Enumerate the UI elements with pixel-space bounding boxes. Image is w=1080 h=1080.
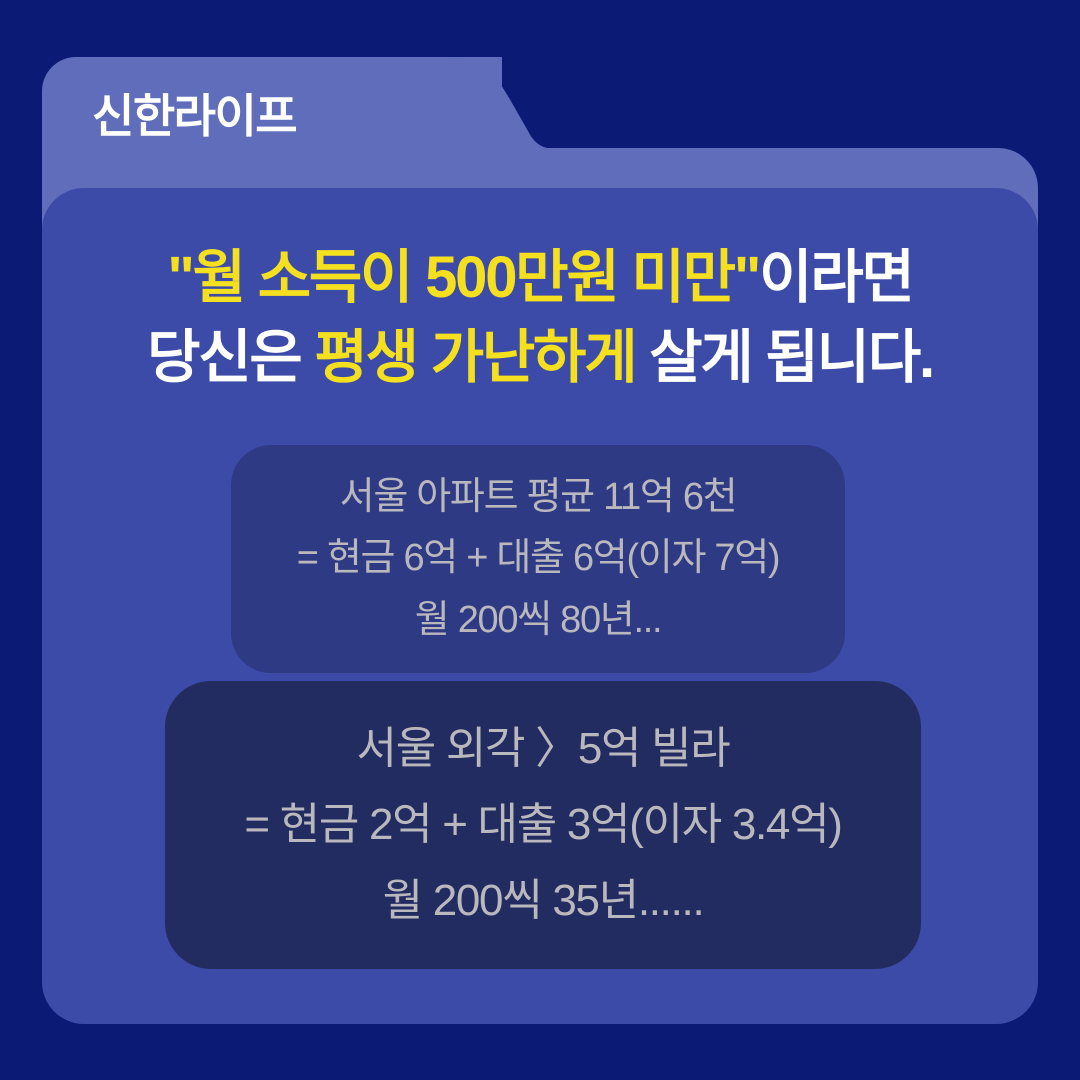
card-1-line-2: = 현금 6억 + 대출 6억(이자 7억) [297,528,779,590]
headline-line-2-accent: 평생 가난하게 [314,325,635,390]
card-1-line-1: 서울 아파트 평균 11억 6천 [340,467,737,529]
headline-line-2-plain-a: 당신은 [147,325,314,390]
headline-line-1-plain: 이라면 [759,245,912,310]
headline-line-2-plain-b: 살게 됩니다. [635,325,933,390]
card-news-canvas: 신한라이프 "월 소득이 500만원 미만"이라면 당신은 평생 가난하게 살게… [0,0,1080,1080]
folder-tab-slope-icon [430,57,580,149]
info-card-villa: 서울 외각 〉5억 빌라 = 현금 2억 + 대출 3억(이자 3.4억) 월 … [165,681,921,969]
brand-logo: 신한라이프 [92,93,296,139]
info-card-apartment: 서울 아파트 평균 11억 6천 = 현금 6억 + 대출 6억(이자 7억) … [231,445,845,673]
headline-line-2: 당신은 평생 가난하게 살게 됩니다. [42,318,1038,398]
card-2-line-2: = 현금 2억 + 대출 3억(이자 3.4억) [244,787,841,863]
headline: "월 소득이 500만원 미만"이라면 당신은 평생 가난하게 살게 됩니다. [42,238,1038,398]
card-1-line-3: 월 200씩 80년... [415,590,661,652]
headline-line-1: "월 소득이 500만원 미만"이라면 [42,238,1038,318]
headline-line-1-accent: "월 소득이 500만원 미만" [167,245,759,310]
card-2-line-3: 월 200씩 35년...... [383,863,704,939]
card-2-line-1: 서울 외각 〉5억 빌라 [357,711,730,787]
